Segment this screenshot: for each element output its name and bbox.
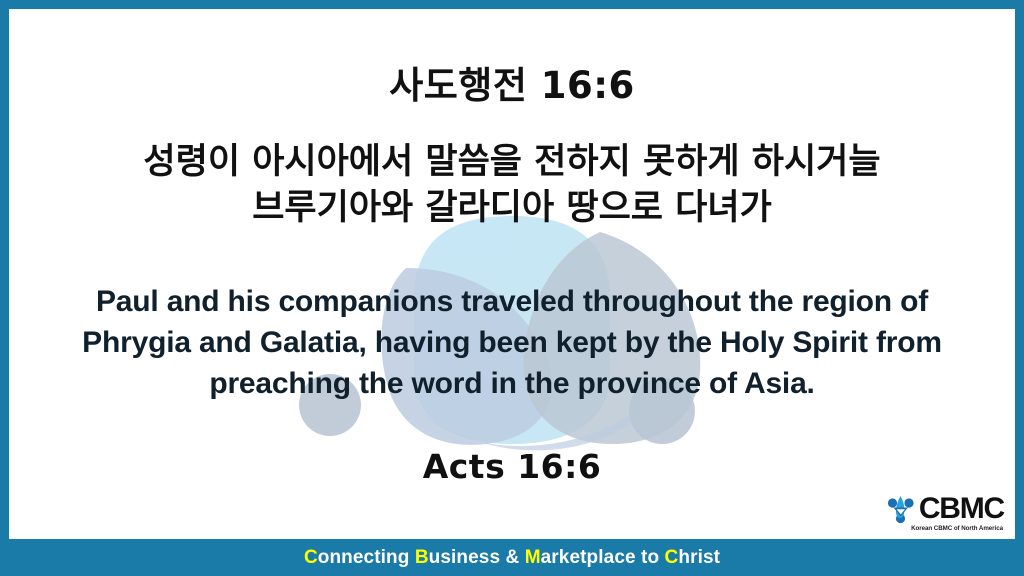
cbmc-emblem-icon — [884, 494, 918, 524]
english-reference-title: Acts 16:6 — [9, 447, 1015, 486]
footer-bar: Connecting Business & Marketplace to Chr… — [0, 539, 1024, 576]
korean-verse-block: 성령이 아시아에서 말씀을 전하지 못하게 하시거늘 브루기아와 갈라디아 땅으… — [9, 139, 1015, 231]
english-verse-block: Paul and his companions traveled through… — [15, 281, 1009, 404]
slide-content: 사도행전 16:6 성령이 아시아에서 말씀을 전하지 못하게 하시거늘 브루기… — [9, 9, 1015, 540]
korean-verse-line-1: 성령이 아시아에서 말씀을 전하지 못하게 하시거늘 — [9, 139, 1015, 185]
cbmc-logo: CBMC Korean CBMC of North America — [884, 494, 1004, 532]
english-verse-line-3: preaching the word in the province of As… — [15, 363, 1009, 404]
frame-border-right — [1015, 0, 1024, 576]
english-verse-line-2: Phrygia and Galatia, having been kept by… — [15, 322, 1009, 363]
cbmc-logo-main: CBMC — [884, 494, 1004, 524]
tagline-segment: onnecting — [318, 547, 415, 568]
frame-border-left — [0, 0, 9, 576]
tagline-segment: hrist — [678, 547, 720, 568]
frame-border-top — [0, 0, 1024, 9]
cbmc-logo-subtitle: Korean CBMC of North America — [911, 525, 1003, 532]
footer-tagline: Connecting Business & Marketplace to Chr… — [304, 547, 720, 569]
tagline-segment: usiness & — [429, 547, 525, 568]
korean-reference-title: 사도행전 16:6 — [9, 55, 1015, 109]
tagline-segment: B — [415, 547, 429, 568]
tagline-segment: C — [665, 547, 679, 568]
tagline-segment: arketplace to — [541, 547, 665, 568]
cbmc-wordmark: CBMC — [919, 494, 1004, 524]
korean-verse-line-2: 브루기아와 갈라디아 땅으로 다녀가 — [9, 185, 1015, 231]
tagline-segment: C — [304, 547, 318, 568]
english-verse-line-1: Paul and his companions traveled through… — [15, 281, 1009, 322]
tagline-segment: M — [525, 547, 541, 568]
presentation-slide: 사도행전 16:6 성령이 아시아에서 말씀을 전하지 못하게 하시거늘 브루기… — [0, 0, 1024, 576]
